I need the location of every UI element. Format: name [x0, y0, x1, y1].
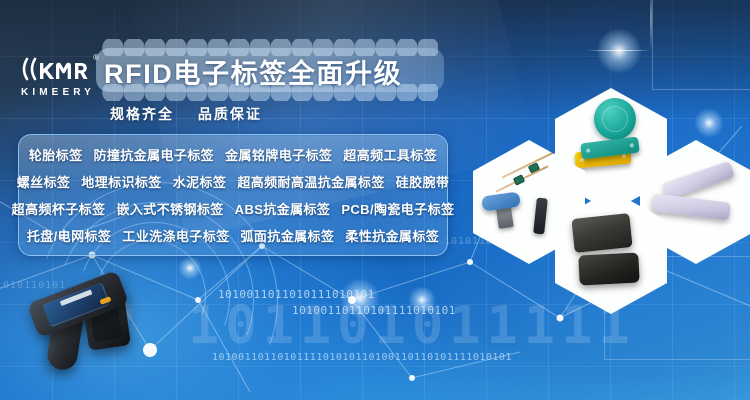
round-anti-metal-tag: [594, 98, 636, 140]
stick-anti-metal-tag: [533, 198, 548, 235]
tag-item[interactable]: PCB/陶瓷电子标签: [341, 199, 454, 218]
tag-item[interactable]: 托盘/电网标签: [27, 226, 111, 245]
product-tag-list-panel: 轮胎标签 防撞抗金属电子标签 金属铭牌电子标签 超高频工具标签 螺丝标签 地理标…: [18, 134, 448, 256]
binary-small-overlay-bottom: 1010011011010111101010110100110110101111…: [212, 352, 512, 363]
tag-item[interactable]: 地理标识标签: [81, 172, 161, 191]
rfid-promo-banner: 101101011111 1010011011010111010101 1010…: [0, 0, 750, 400]
kmr-logo-icon: ®: [14, 52, 98, 86]
tag-item[interactable]: 螺丝标签: [17, 172, 71, 191]
abs-anti-metal-tag-top: [571, 213, 632, 253]
binary-small-overlay-top: 1010011011010111010101: [218, 288, 375, 301]
curved-anti-metal-tag: [651, 193, 731, 220]
screw-tag-head: [481, 191, 521, 211]
brand-logo: ® KIMEERY: [14, 52, 98, 110]
tag-item[interactable]: 工业洗涤电子标签: [122, 226, 229, 245]
abs-anti-metal-tag-bottom: [578, 252, 639, 285]
tag-item[interactable]: 轮胎标签: [29, 145, 83, 164]
tag-row: 超高频杯子标签 嵌入式不锈钢标签 ABS抗金属标签 PCB/陶瓷电子标签: [27, 195, 439, 222]
tag-item[interactable]: 金属铭牌电子标签: [225, 145, 332, 164]
screen-corner-frame: [652, 0, 750, 90]
subtitle-part-2: 品质保证: [198, 106, 262, 122]
page-title: RFID电子标签全面升级: [104, 50, 444, 92]
brand-wordmark: KIMEERY: [14, 87, 98, 98]
tag-row: 螺丝标签 地理标识标签 水泥标签 超高频耐高温抗金属标签 硅胶腕带: [27, 168, 439, 195]
tag-item[interactable]: 水泥标签: [173, 172, 227, 191]
subtitle: 规格齐全 品质保证: [110, 104, 262, 124]
tag-item[interactable]: 柔性抗金属标签: [345, 226, 439, 245]
tag-item[interactable]: 防撞抗金属电子标签: [93, 145, 214, 164]
tag-item[interactable]: 超高频工具标签: [343, 145, 437, 164]
subtitle-part-1: 规格齐全: [110, 106, 174, 122]
kmr-logo-glyph: [18, 53, 94, 85]
tag-item[interactable]: 超高频杯子标签: [12, 199, 106, 218]
tag-item[interactable]: ABS抗金属标签: [235, 199, 331, 218]
tag-item[interactable]: 弧面抗金属标签: [241, 226, 335, 245]
tag-item[interactable]: 嵌入式不锈钢标签: [116, 199, 223, 218]
tag-row: 轮胎标签 防撞抗金属电子标签 金属铭牌电子标签 超高频工具标签: [27, 141, 439, 168]
flexible-anti-metal-tag: [661, 161, 735, 201]
binary-small-overlay-mid: 10100110110101111010101: [292, 304, 456, 317]
tag-item[interactable]: 超高频耐高温抗金属标签: [237, 172, 384, 191]
tag-item[interactable]: 硅胶腕带: [396, 172, 450, 191]
tag-row: 托盘/电网标签 工业洗涤电子标签 弧面抗金属标签 柔性抗金属标签: [27, 222, 439, 249]
handheld-uhf-rfid-reader[interactable]: [24, 276, 160, 392]
